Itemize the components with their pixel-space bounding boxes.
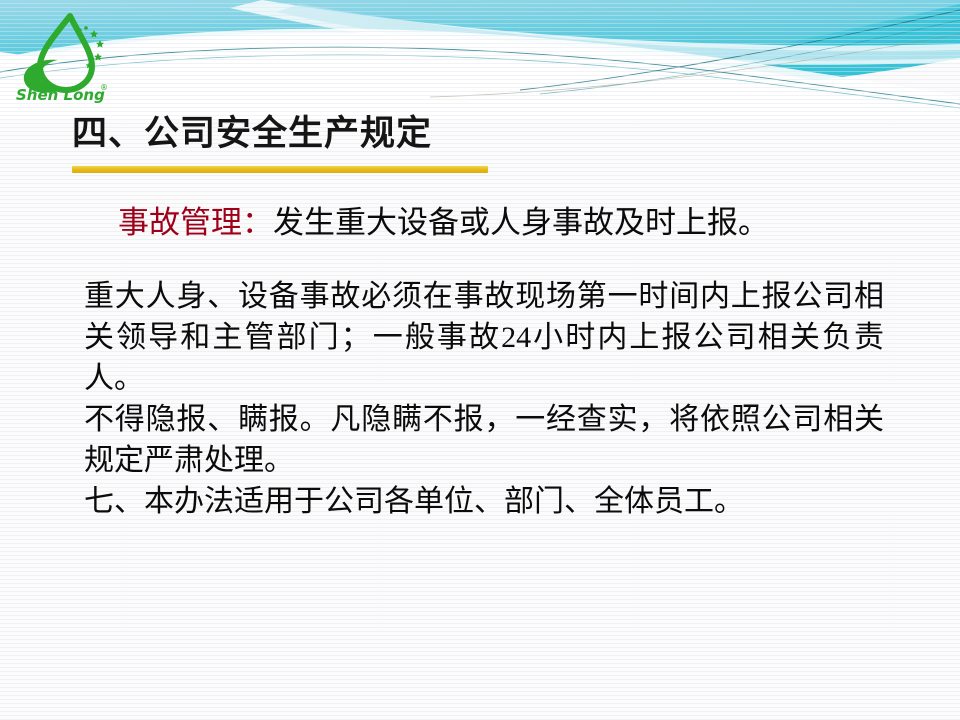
- cyan-wave-banner: [0, 0, 960, 120]
- paragraph-2: 不得隐报、瞒报。凡隐瞒不报，一经查实，将依照公司相关规定严肃处理。: [84, 399, 884, 481]
- title-block: 四、公司安全生产规定: [72, 112, 488, 173]
- logo-wordmark: Shen Long: [16, 86, 105, 104]
- presentation-slide: Shen Long ® 四、公司安全生产规定 事故管理：发生重大设备或人身事故及…: [0, 0, 960, 720]
- paragraph-group: 重大人身、设备事故必须在事故现场第一时间内上报公司相关领导和主管部门；一般事故2…: [84, 276, 884, 522]
- title-underline-rule: [72, 166, 488, 173]
- lead-label: 事故管理：: [118, 205, 273, 240]
- lead-line: 事故管理：发生重大设备或人身事故及时上报。: [118, 200, 960, 246]
- paragraph-1: 重大人身、设备事故必须在事故现场第一时间内上报公司相关领导和主管部门；一般事故2…: [84, 276, 884, 399]
- page-title: 四、公司安全生产规定: [72, 112, 488, 156]
- water-drop-icon: [40, 16, 92, 90]
- slide-content: 事故管理：发生重大设备或人身事故及时上报。 重大人身、设备事故必须在事故现场第一…: [0, 200, 960, 522]
- registered-trademark-icon: ®: [100, 83, 108, 92]
- company-logo: Shen Long ®: [14, 10, 118, 106]
- lead-text: 发生重大设备或人身事故及时上报。: [273, 205, 769, 240]
- paragraph-3: 七、本办法适用于公司各单位、部门、全体员工。: [84, 481, 884, 522]
